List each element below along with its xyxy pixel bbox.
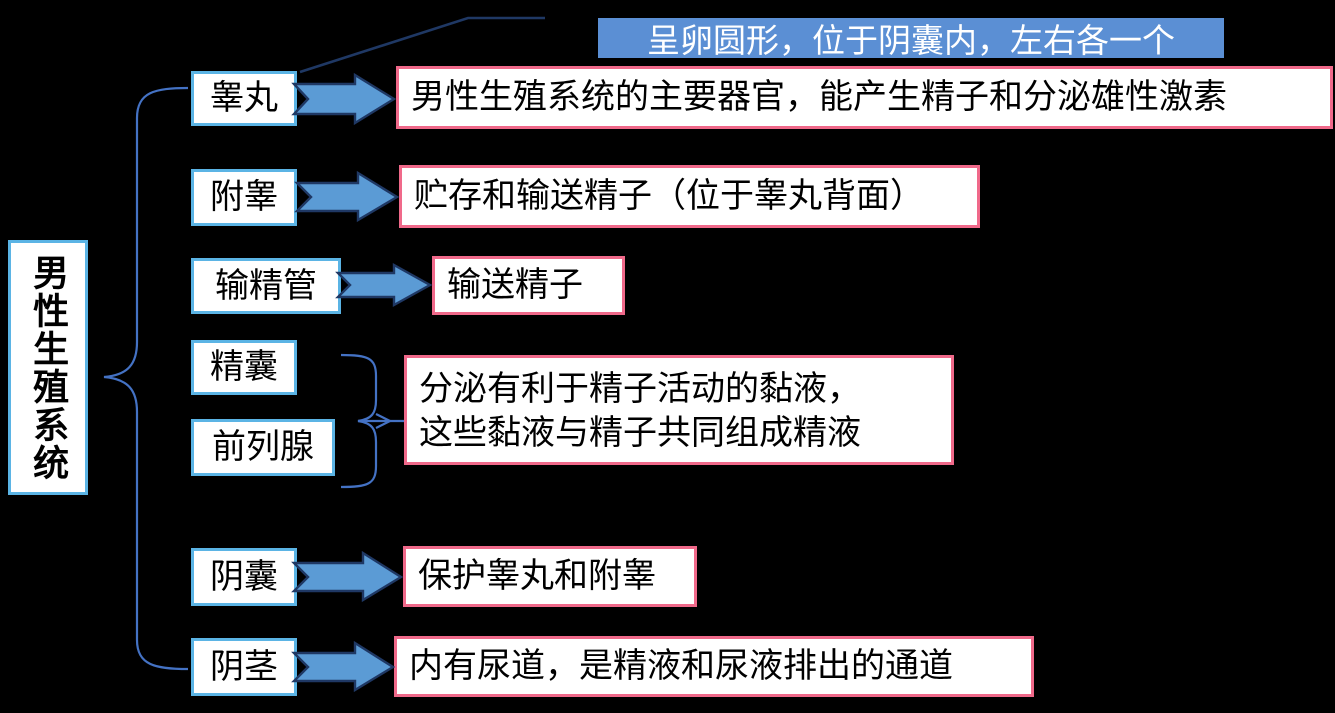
desc-box-epididymis[interactable]: 贮存和输送精子（位于睾丸背面） [399,165,980,228]
arrow-icon-epididymis [297,173,397,220]
root-node[interactable]: 男性生殖系统 [8,240,88,495]
callout-leader [300,18,545,72]
gland-brace-arrowhead [376,414,390,428]
desc-box-scrotum[interactable]: 保护睾丸和附睾 [403,546,697,607]
term-box-vas-deferens[interactable]: 输精管 [191,258,341,314]
gland-brace [341,355,376,487]
desc-box-penis[interactable]: 内有尿道，是精液和尿液排出的通道 [394,636,1034,697]
arrow-icon-testis [294,75,394,123]
term-box-epididymis[interactable]: 附睾 [191,169,297,226]
arrow-icon-vas-deferens [338,265,430,305]
term-box-seminal-vesicle[interactable]: 精囊 [191,340,297,395]
main-brace [104,88,188,669]
arrow-icon-penis [294,643,393,690]
arrow-icon-scrotum [294,553,401,600]
desc-box-testis[interactable]: 男性生殖系统的主要器官，能产生精子和分泌雄性激素 [396,66,1333,129]
desc-box-vas-deferens[interactable]: 输送精子 [432,256,625,315]
diagram-canvas: 男性生殖系统 呈卵圆形，位于阴囊内，左右各一个 睾丸 男性生殖系统的主要器官，能… [0,0,1335,713]
callout-box[interactable]: 呈卵圆形，位于阴囊内，左右各一个 [598,18,1224,58]
term-box-penis[interactable]: 阴茎 [191,638,297,696]
term-box-testis[interactable]: 睾丸 [191,71,297,126]
term-box-prostate[interactable]: 前列腺 [191,419,335,476]
term-box-scrotum[interactable]: 阴囊 [191,548,297,606]
desc-box-glands[interactable]: 分泌有利于精子活动的黏液， 这些黏液与精子共同组成精液 [404,355,954,465]
